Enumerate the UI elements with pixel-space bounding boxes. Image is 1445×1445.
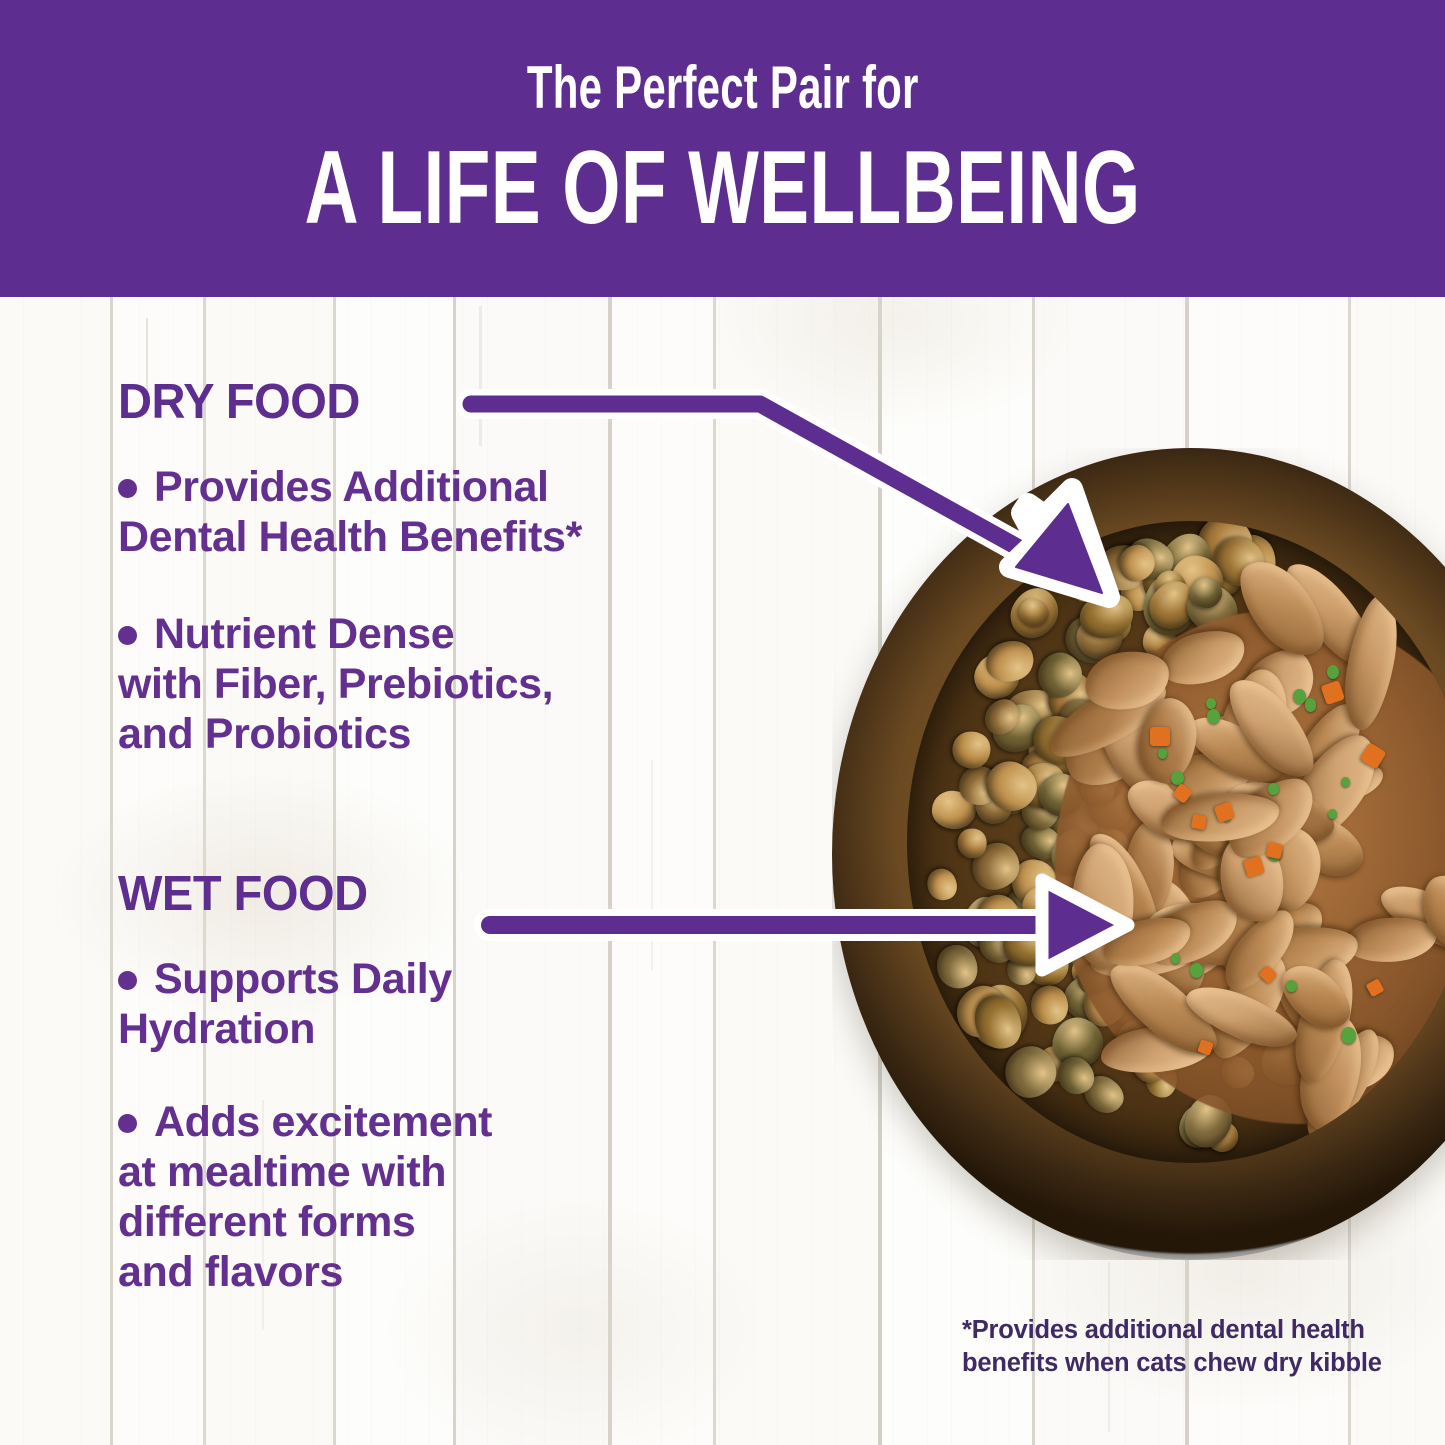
bullet-dot-icon bbox=[118, 1114, 137, 1133]
infographic-page: The Perfect Pair for A LIFE OF WELLBEING bbox=[0, 0, 1445, 1445]
green-pea bbox=[1286, 980, 1297, 992]
green-pea bbox=[1341, 777, 1350, 787]
carrot-piece bbox=[1365, 978, 1384, 997]
dry-food-bullet-2: Nutrient Dense with Fiber, Prebiotics, a… bbox=[118, 610, 818, 760]
green-pea bbox=[1190, 963, 1203, 977]
green-pea bbox=[1206, 698, 1216, 709]
bullet-dot-icon bbox=[118, 626, 137, 645]
wet-food-chunk bbox=[1344, 915, 1438, 965]
dry-food-bullet-1-text: Provides Additional Dental Health Benefi… bbox=[118, 463, 582, 561]
carrot-piece bbox=[1321, 680, 1345, 705]
dry-food-bullet-2-text: Nutrient Dense with Fiber, Prebiotics, a… bbox=[118, 610, 553, 758]
green-pea bbox=[1171, 953, 1181, 964]
dry-food-bullet-1: Provides Additional Dental Health Benefi… bbox=[118, 463, 818, 563]
green-pea bbox=[1268, 783, 1279, 795]
carrot-piece bbox=[1150, 727, 1170, 746]
wet-food-bullet-1-text: Supports Daily Hydration bbox=[118, 955, 452, 1053]
footnote-text: *Provides additional dental health benef… bbox=[962, 1314, 1392, 1379]
green-pea bbox=[1327, 665, 1339, 679]
green-pea bbox=[1305, 698, 1317, 711]
bullet-dot-icon bbox=[118, 971, 137, 990]
bullet-dot-icon bbox=[118, 479, 137, 498]
banner-line-2: A LIFE OF WELLBEING bbox=[304, 136, 1140, 240]
dry-food-heading: DRY FOOD bbox=[118, 378, 360, 427]
food-well bbox=[907, 521, 1445, 1162]
banner-line-1: The Perfect Pair for bbox=[527, 58, 919, 118]
bowl-photo bbox=[832, 448, 1445, 1260]
wood-streak bbox=[479, 306, 482, 446]
wood-streak bbox=[651, 760, 653, 970]
stainless-steel-bowl bbox=[832, 448, 1445, 1260]
wet-food-bullet-2: Adds excitement at mealtime with differe… bbox=[118, 1098, 818, 1298]
wet-food-chunk-field bbox=[907, 521, 1445, 1162]
header-banner: The Perfect Pair for A LIFE OF WELLBEING bbox=[0, 0, 1445, 297]
green-pea bbox=[1341, 1027, 1356, 1044]
wet-food-bullet-2-text: Adds excitement at mealtime with differe… bbox=[118, 1098, 492, 1296]
wet-food-heading: WET FOOD bbox=[118, 870, 368, 919]
wet-food-bullet-1: Supports Daily Hydration bbox=[118, 955, 818, 1055]
